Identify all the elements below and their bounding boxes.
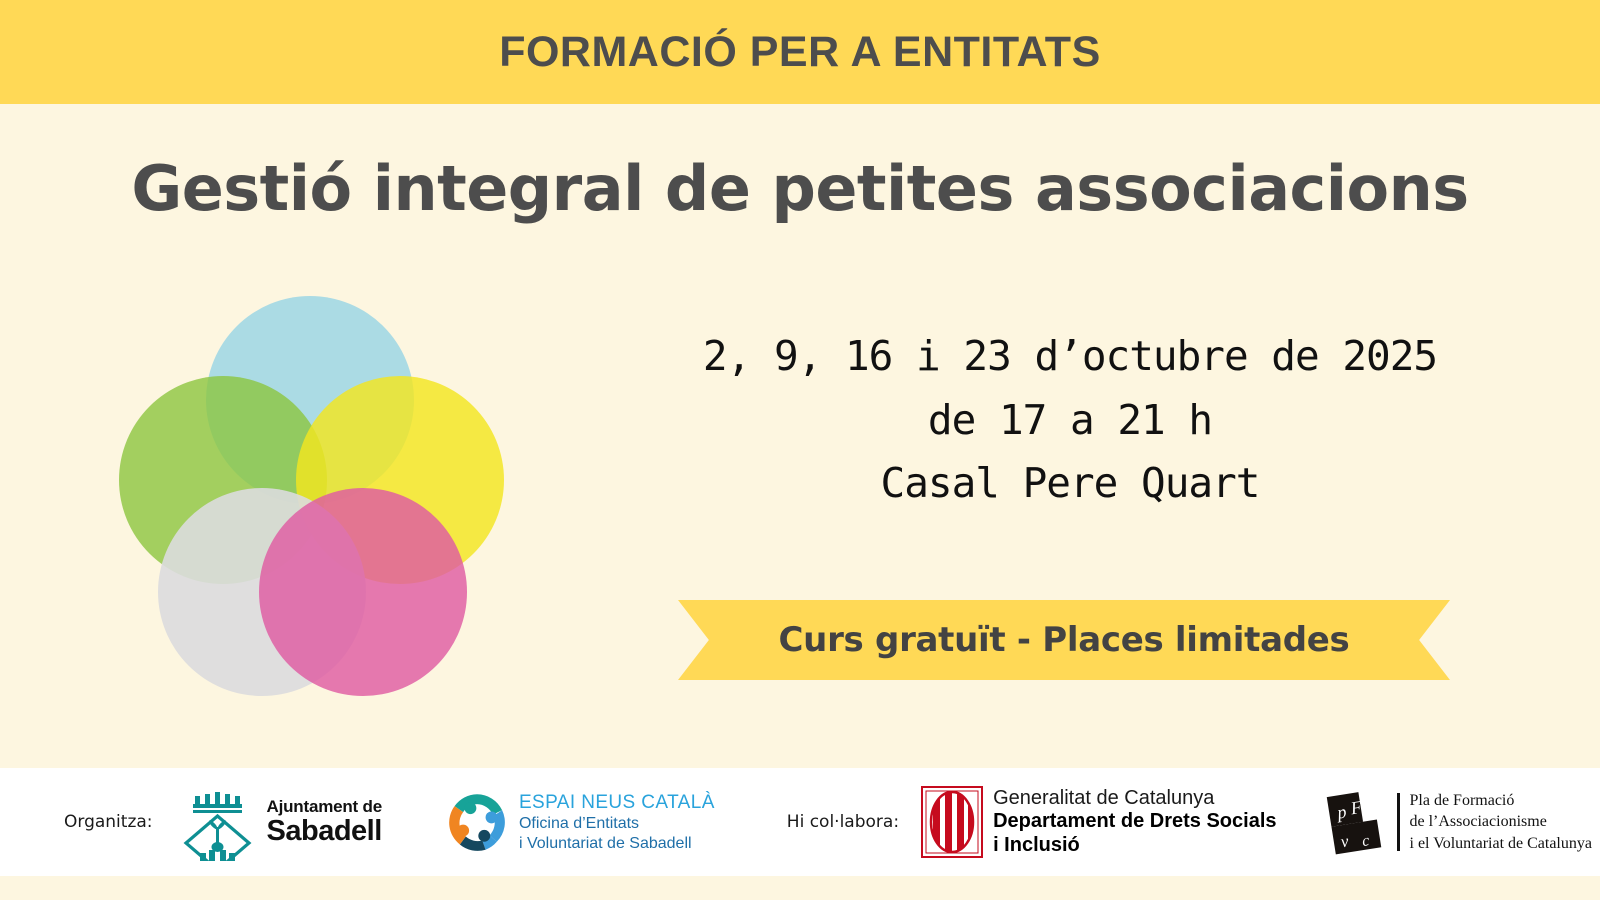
sabadell-text: Ajuntament de Sabadell bbox=[267, 798, 382, 846]
generalitat-line1: Generalitat de Catalunya bbox=[993, 787, 1276, 810]
footer-band: Organitza: bbox=[0, 768, 1600, 876]
event-info: 2, 9, 16 i 23 d’octubre de 2025 de 17 a … bbox=[690, 325, 1450, 516]
header-title: FORMACIÓ PER A ENTITATS bbox=[499, 28, 1101, 77]
event-dates: 2, 9, 16 i 23 d’octubre de 2025 bbox=[690, 325, 1450, 389]
generalitat-line3: i Inclusió bbox=[993, 834, 1276, 857]
espai-text: ESPAI NEUS CATALÀ Oficina d’Entitats i V… bbox=[519, 791, 715, 853]
espai-line3: i Voluntariat de Sabadell bbox=[519, 834, 715, 854]
generalitat-senyera-icon bbox=[921, 786, 983, 858]
generalitat-line2: Departament de Drets Socials bbox=[993, 810, 1276, 833]
generalitat-text: Generalitat de Catalunya Departament de … bbox=[993, 787, 1276, 857]
pfvc-line3: i el Voluntariat de Catalunya bbox=[1410, 833, 1592, 854]
pfvc-line1: Pla de Formació bbox=[1410, 790, 1592, 811]
pfvc-line2: de l’Associacionisme bbox=[1410, 811, 1592, 832]
event-venue: Casal Pere Quart bbox=[690, 452, 1450, 516]
venn-circle-magenta bbox=[259, 488, 467, 696]
logo-generalitat-catalunya: Generalitat de Catalunya Departament de … bbox=[921, 786, 1276, 858]
logo-ajuntament-sabadell: Ajuntament de Sabadell bbox=[181, 783, 382, 861]
espai-people-circle-icon bbox=[444, 789, 510, 855]
collabora-label: Hi col·labora: bbox=[787, 812, 899, 832]
event-time: de 17 a 21 h bbox=[690, 389, 1450, 453]
sabadell-shield-icon bbox=[181, 783, 257, 861]
ribbon-banner: Curs gratuït - Places limitades bbox=[678, 600, 1450, 680]
venn-diagram-graphic bbox=[95, 280, 525, 700]
organitza-label: Organitza: bbox=[64, 812, 153, 832]
header-band: FORMACIÓ PER A ENTITATS bbox=[0, 0, 1600, 104]
logo-pfvc: p F v c Pla de Formació de l’Associacion… bbox=[1323, 787, 1592, 857]
espai-line2: Oficina d’Entitats bbox=[519, 814, 715, 834]
pfvc-text: Pla de Formació de l’Associacionisme i e… bbox=[1410, 790, 1592, 854]
sabadell-line1: Ajuntament de bbox=[267, 798, 382, 816]
logo-espai-neus-catala: ESPAI NEUS CATALÀ Oficina d’Entitats i V… bbox=[444, 789, 715, 855]
espai-title: ESPAI NEUS CATALÀ bbox=[519, 791, 715, 814]
footer-logos-row: Organitza: bbox=[0, 768, 1600, 876]
pfvc-divider bbox=[1397, 793, 1400, 851]
poster: FORMACIÓ PER A ENTITATS Gestió integral … bbox=[0, 0, 1600, 900]
pfvc-blocks-icon: p F v c bbox=[1323, 787, 1387, 857]
ribbon-text: Curs gratuït - Places limitades bbox=[779, 620, 1350, 660]
sabadell-line2: Sabadell bbox=[267, 816, 382, 846]
page-title: Gestió integral de petites associacions bbox=[0, 152, 1600, 225]
